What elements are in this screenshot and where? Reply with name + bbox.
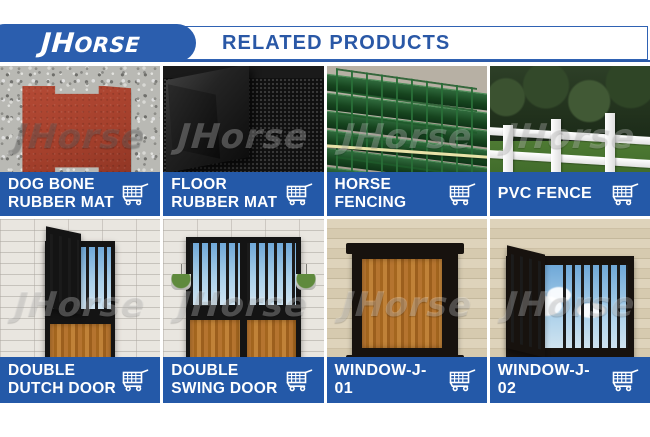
product-grid: JHorse DOG BONE RUBBER MAT [0,66,650,437]
product-name: FLOOR RUBBER MAT [163,176,279,212]
dog-bone-paver-shape [22,86,131,179]
product-card-horse-fencing[interactable]: JHorse HORSE FENCING [327,66,487,216]
shopping-cart-icon[interactable] [280,365,318,395]
product-name: PVC FENCE [490,185,606,203]
page-title: RELATED PRODUCTS [222,26,450,60]
product-card-floor-rubber-mat[interactable]: JHorse FLOOR RUBBER MAT [163,66,323,216]
shopping-cart-icon[interactable] [606,365,644,395]
shopping-cart-icon[interactable] [116,179,154,209]
open-sash-bars [511,254,543,350]
product-card-pvc-fence[interactable]: JHorse PVC FENCE [490,66,650,216]
brand-logo-text: JHorse [40,28,141,59]
product-name: HORSE FENCING [327,176,443,212]
shopping-cart-icon[interactable] [606,179,644,209]
product-label-bar[interactable]: HORSE FENCING [327,172,487,216]
window-wood-panel [362,259,442,347]
hanging-flower-basket-left [171,274,191,290]
product-name: DOG BONE RUBBER MAT [0,176,116,212]
related-products-page: JHorse RELATED PRODUCTS JHorse DOG BONE … [0,0,650,437]
product-label-bar[interactable]: PVC FENCE [490,172,650,216]
product-card-double-swing-door[interactable]: JHorse DOUBLE SWING DOOR [163,219,323,403]
product-card-double-dutch-door[interactable]: JHorse DOUBLE DUTCH DOOR [0,219,160,403]
window-bars-fixed [563,265,627,348]
product-label-bar[interactable]: DOUBLE DUTCH DOOR [0,357,160,403]
shopping-cart-icon[interactable] [280,179,318,209]
shopping-cart-icon[interactable] [443,179,481,209]
product-card-dog-bone-rubber-mat[interactable]: JHorse DOG BONE RUBBER MAT [0,66,160,216]
hanging-flower-basket-right [296,274,316,290]
rubber-mat-fold-inner [168,84,220,159]
shopping-cart-icon[interactable] [443,365,481,395]
product-label-bar[interactable]: DOUBLE SWING DOOR [163,357,323,403]
window-header-trim [346,243,465,254]
product-card-window-j-01[interactable]: JHorse WINDOW-J-01 [327,219,487,403]
product-name: DOUBLE SWING DOOR [163,362,279,398]
product-label-bar[interactable]: FLOOR RUBBER MAT [163,172,323,216]
product-label-bar[interactable]: WINDOW-J-01 [327,357,487,403]
product-label-bar[interactable]: WINDOW-J-02 [490,357,650,403]
page-header: JHorse RELATED PRODUCTS [0,12,650,62]
left-leaf-bars [190,243,240,306]
shopping-cart-icon[interactable] [116,365,154,395]
product-name: WINDOW-J-01 [327,362,443,398]
product-name: WINDOW-J-02 [490,362,606,398]
product-name: DOUBLE DUTCH DOOR [0,362,116,398]
brand-logo[interactable]: JHorse [0,24,196,62]
product-label-bar[interactable]: DOG BONE RUBBER MAT [0,172,160,216]
paver-texture [22,86,131,179]
right-leaf-bars [247,243,297,306]
open-leaf-bars [50,234,79,306]
product-card-window-j-02[interactable]: JHorse WINDOW-J-02 [490,219,650,403]
